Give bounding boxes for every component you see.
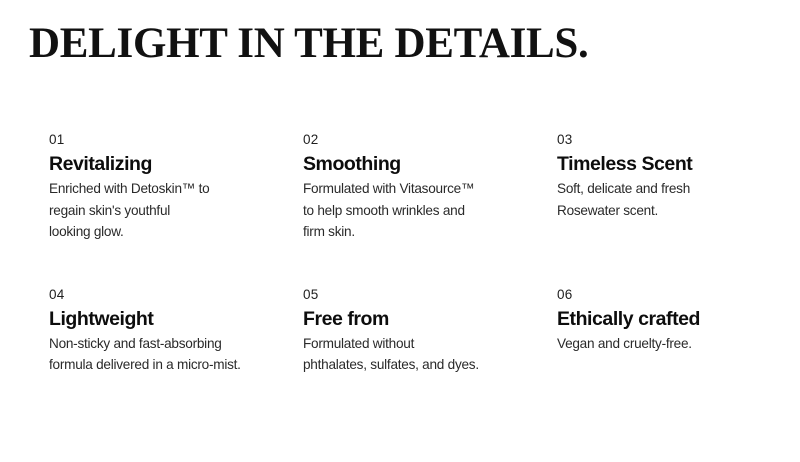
feature-number: 04 <box>49 287 303 303</box>
feature-item-05: 05 Free from Formulated without phthalat… <box>303 287 557 376</box>
feature-title: Smoothing <box>303 152 557 176</box>
feature-title: Ethically crafted <box>557 307 759 331</box>
feature-description: Soft, delicate and fresh Rosewater scent… <box>557 178 759 221</box>
feature-title: Free from <box>303 307 557 331</box>
slide-root: DELIGHT IN THE DETAILS. 01 Revitalizing … <box>0 0 800 462</box>
feature-number: 01 <box>49 132 303 148</box>
page-title: DELIGHT IN THE DETAILS. <box>29 20 588 68</box>
feature-item-03: 03 Timeless Scent Soft, delicate and fre… <box>557 132 759 243</box>
feature-description: Formulated without phthalates, sulfates,… <box>303 333 557 376</box>
feature-grid: 01 Revitalizing Enriched with Detoskin™ … <box>49 132 759 376</box>
feature-item-02: 02 Smoothing Formulated with Vitasource™… <box>303 132 557 243</box>
feature-description: Formulated with Vitasource™ to help smoo… <box>303 178 557 243</box>
feature-description: Vegan and cruelty-free. <box>557 333 759 355</box>
feature-title: Lightweight <box>49 307 303 331</box>
feature-description: Non-sticky and fast-absorbing formula de… <box>49 333 303 376</box>
feature-title: Revitalizing <box>49 152 303 176</box>
feature-number: 06 <box>557 287 759 303</box>
feature-number: 05 <box>303 287 557 303</box>
feature-item-01: 01 Revitalizing Enriched with Detoskin™ … <box>49 132 303 243</box>
feature-number: 02 <box>303 132 557 148</box>
feature-title: Timeless Scent <box>557 152 759 176</box>
feature-number: 03 <box>557 132 759 148</box>
feature-item-06: 06 Ethically crafted Vegan and cruelty-f… <box>557 287 759 376</box>
feature-item-04: 04 Lightweight Non-sticky and fast-absor… <box>49 287 303 376</box>
feature-description: Enriched with Detoskin™ to regain skin's… <box>49 178 303 243</box>
